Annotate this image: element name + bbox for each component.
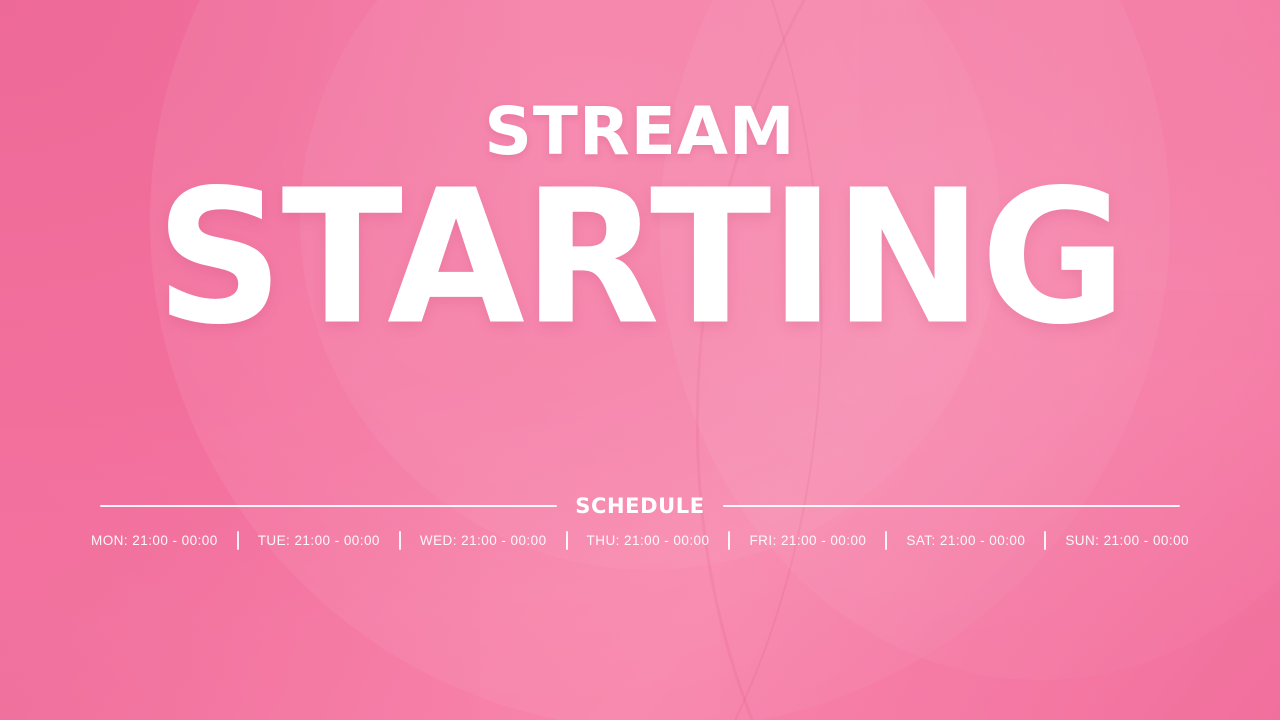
stream-starting-screen: STREAM STARTING SCHEDULE MON: 21:00 - 00… (0, 0, 1280, 720)
schedule-day-item: WED: 21:00 - 00:00 (401, 533, 566, 548)
schedule-rule-left (100, 505, 557, 507)
schedule-rule-right (723, 505, 1180, 507)
schedule-day-item: FRI: 21:00 - 00:00 (730, 533, 885, 548)
schedule-day-item: TUE: 21:00 - 00:00 (239, 533, 399, 548)
schedule-title: SCHEDULE (575, 494, 704, 518)
schedule-header: SCHEDULE (100, 494, 1180, 518)
schedule-day-item: SUN: 21:00 - 00:00 (1046, 533, 1208, 548)
schedule-days-row: MON: 21:00 - 00:00TUE: 21:00 - 00:00WED:… (100, 531, 1180, 550)
schedule-block: SCHEDULE MON: 21:00 - 00:00TUE: 21:00 - … (100, 494, 1180, 550)
schedule-day-item: THU: 21:00 - 00:00 (568, 533, 729, 548)
schedule-day-item: SAT: 21:00 - 00:00 (887, 533, 1044, 548)
schedule-day-item: MON: 21:00 - 00:00 (72, 533, 237, 548)
